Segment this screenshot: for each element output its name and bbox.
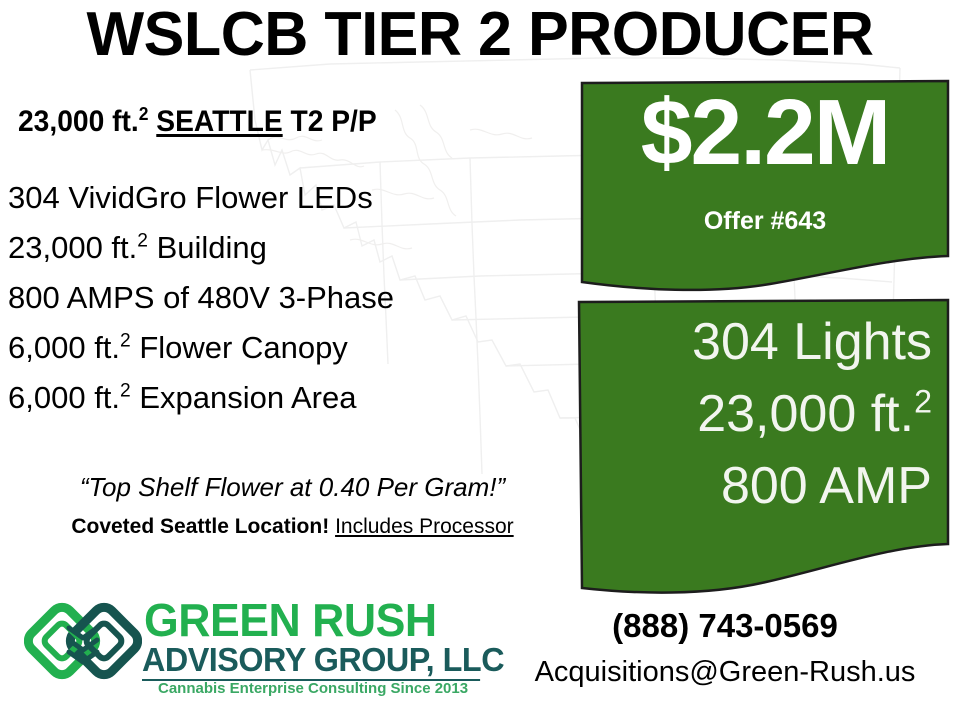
feature-list: 304 VividGro Flower LEDs 23,000 ft.2 Bui… [8, 173, 574, 423]
logo-company-name: GREEN RUSH [144, 596, 474, 644]
list-item: 800 AMP [578, 450, 940, 522]
tagline-underlined-text: Includes Processor [335, 515, 514, 538]
flyer-subtitle: 23,000 ft.2 SEATTLE T2 P/P [18, 105, 544, 139]
offer-number: Offer #643 [582, 206, 948, 236]
list-item: 800 AMPS of 480V 3-Phase [8, 273, 574, 323]
interlocking-diamonds-leaf-icon [24, 594, 142, 698]
flyer-title: WSLCB TIER 2 PRODUCER [7, 4, 953, 66]
list-item: 304 VividGro Flower LEDs [8, 173, 574, 223]
logo-tagline: Cannabis Enterprise Consulting Since 201… [158, 680, 488, 698]
tagline-bold-text: Coveted Seattle Location! [71, 515, 329, 538]
list-item: 6,000 ft.2 Expansion Area [8, 373, 574, 423]
list-item: 6,000 ft.2 Flower Canopy [8, 323, 574, 373]
pitch-quote: “Top Shelf Flower at 0.40 Per Gram!” [10, 472, 575, 503]
location-tagline: Coveted Seattle Location! Includes Proce… [10, 515, 575, 539]
list-item: 23,000 ft.2 [578, 378, 940, 450]
price-amount: $2.2M [582, 82, 948, 182]
logo-company-subname: ADVISORY GROUP, LLC [142, 642, 480, 681]
specs-list: 304 Lights 23,000 ft.2 800 AMP [578, 306, 940, 522]
company-logo: GREEN RUSH ADVISORY GROUP, LLC Cannabis … [16, 592, 486, 704]
list-item: 304 Lights [578, 306, 940, 378]
list-item: 23,000 ft.2 Building [8, 223, 574, 273]
contact-phone[interactable]: (888) 743-0569 [500, 607, 950, 645]
subtitle-suffix: T2 P/P [283, 105, 377, 138]
subtitle-prefix: 23,000 ft.2 [18, 105, 156, 138]
contact-email[interactable]: Acquisitions@Green-Rush.us [500, 655, 950, 689]
subtitle-location: SEATTLE [156, 105, 282, 138]
